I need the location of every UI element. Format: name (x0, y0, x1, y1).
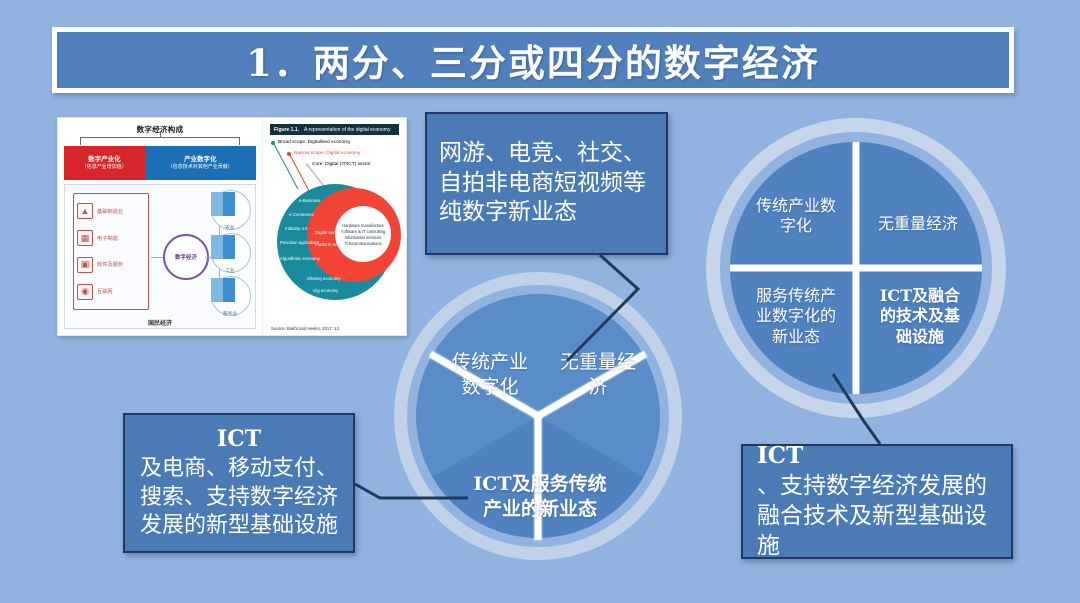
floppy-icon: ▣ (77, 257, 93, 273)
bracket-connector (80, 137, 240, 145)
quadrant-label-ict: ICT及融合 的技术及基 础设施 (862, 286, 978, 347)
four-part-digital-economy-chart: 传统产业数 字化 无重量经济 服务传统产 业数字化的 新业态 ICT及融合 的技… (706, 118, 1006, 418)
outer-label: Algorithmic economy (280, 256, 320, 261)
outer-label: Sharing economy (307, 276, 340, 281)
callout-pure-digital[interactable]: 网游、电竞、社交、自拍非电商短视频等纯数字新业态 (425, 112, 668, 255)
quadrant-divider-horizontal (730, 265, 982, 272)
node-services: 服务业 (193, 273, 251, 317)
list-item: ◉ 互联网 (77, 284, 145, 300)
title-bar: 1．两分、三分或四分的数字经济 (57, 32, 1009, 88)
node-industry: 工业 (193, 230, 251, 274)
band-subtitle: （信息产业增加值） (82, 164, 127, 170)
legend-item-narrow: Narrow scope: Digital economy (287, 151, 360, 156)
outer-label: Industry 4.0 (285, 226, 307, 231)
figure-title: A representation of the digital economy (304, 127, 390, 133)
outer-label: e-Business (299, 198, 320, 203)
legend-item-core: Core: Digital (IT/ICT) sector (305, 162, 371, 167)
sector-label: 软件及服务 (97, 261, 123, 268)
callout-body: 、支持数字经济发展的融合技术及新型基础设施 (757, 472, 997, 562)
three-part-digital-economy-chart: 传统产业 数字化 无重量经 济 ICT及服务传统 产业的新业态 (394, 272, 682, 560)
band-industrial-digitalization: 产业数字化 （信息技术对其他产业贡献） (145, 146, 256, 180)
band-title: 产业数字化 (184, 156, 217, 164)
callout-bold-prefix: ICT (217, 426, 261, 452)
title-frame: 1．两分、三分或四分的数字经济 (52, 27, 1014, 93)
slide-canvas: 1．两分、三分或四分的数字经济 数字经济构成 数字产业化 （信息产业增加值） 产… (0, 0, 1080, 603)
node-caption: 服务业 (211, 311, 249, 317)
sector-label: 基础制造业 (97, 208, 123, 215)
callout-bold-prefix: ICT (757, 442, 803, 469)
figure-number: Figure 1.1. (274, 127, 299, 133)
figure-caption: Figure 1.1. A representation of the digi… (270, 124, 399, 135)
band-subtitle: （信息技术对其他产业贡献） (168, 164, 233, 170)
outer-label: e-Commerce (289, 212, 314, 217)
list-item: ▲ 基础制造业 (77, 203, 145, 219)
leader-line (289, 154, 311, 195)
figure-source: Source: Bukht and Heeks, 2017: 13. (271, 326, 340, 331)
quadrant-body (730, 142, 982, 394)
quadrant-label-traditional: 传统产业数 字化 (740, 196, 852, 237)
outer-label: Precision agriculture (280, 240, 319, 245)
connector-line (151, 257, 163, 258)
figure-representation-digital-economy: Figure 1.1. A representation of the digi… (263, 118, 406, 335)
callout-body: 及电商、移动支付、搜索、支持数字经济发展的新型基础设施 (136, 455, 342, 541)
sector-label: 互联网 (97, 288, 113, 295)
quadrant-label-services: 服务传统产 业数字化的 新业态 (740, 286, 852, 347)
legend-item-broad: Broad scope: Digitalised economy (271, 140, 351, 145)
band-title: 数字产业化 (88, 156, 121, 164)
pie-segment-label-traditional: 传统产业 数字化 (432, 350, 548, 399)
list-item: ▦ 电子制造 (77, 230, 145, 246)
node-agriculture: 农业 (193, 187, 251, 231)
composition-body: ▲ 基础制造业 ▦ 电子制造 ▣ 软件及服务 ◉ 互联网 (64, 184, 256, 329)
sector-label: 电子制造 (97, 235, 118, 242)
callout-ict-infrastructure[interactable]: ICT及电商、移动支付、搜索、支持数字经济发展的新型基础设施 (123, 413, 355, 553)
sector-list: ▲ 基础制造业 ▦ 电子制造 ▣ 软件及服务 ◉ 互联网 (73, 193, 149, 310)
pie-segment-label-ict-services: ICT及服务传统 产业的新业态 (440, 472, 640, 521)
callout-text: ICT、支持数字经济发展的融合技术及新型基础设施 (757, 441, 997, 562)
callout-text: 网游、电竞、社交、自拍非电商短视频等纯数字新业态 (439, 139, 654, 229)
outer-label: Gig economy (313, 288, 338, 293)
antenna-icon: ▲ (77, 203, 93, 219)
pie-segment-label-weightless: 无重量经 济 (546, 350, 650, 399)
page-title: 1．两分、三分或四分的数字经济 (246, 33, 820, 87)
chip-icon: ▦ (77, 230, 93, 246)
middle-label: Digital services (315, 230, 345, 235)
globe-icon: ◉ (77, 284, 93, 300)
embedded-reference-image: 数字经济构成 数字产业化 （信息产业增加值） 产业数字化 （信息技术对其他产业贡… (57, 117, 407, 336)
figure-digital-economy-composition: 数字经济构成 数字产业化 （信息产业增加值） 产业数字化 （信息技术对其他产业贡… (58, 118, 263, 335)
composition-bands: 数字产业化 （信息产业增加值） 产业数字化 （信息技术对其他产业贡献） (64, 146, 256, 180)
callout-ict-converged[interactable]: ICT、支持数字经济发展的融合技术及新型基础设施 (741, 444, 1013, 559)
callout-text: ICT及电商、移动支付、搜索、支持数字经济发展的新型基础设施 (136, 425, 342, 540)
national-economy-label: 国民经济 (65, 318, 255, 327)
list-item: ▣ 软件及服务 (77, 257, 145, 273)
middle-label: Platform economy (315, 242, 350, 247)
quadrant-label-weightless: 无重量经济 (862, 214, 974, 234)
band-digital-industrialization: 数字产业化 （信息产业增加值） (64, 146, 145, 180)
